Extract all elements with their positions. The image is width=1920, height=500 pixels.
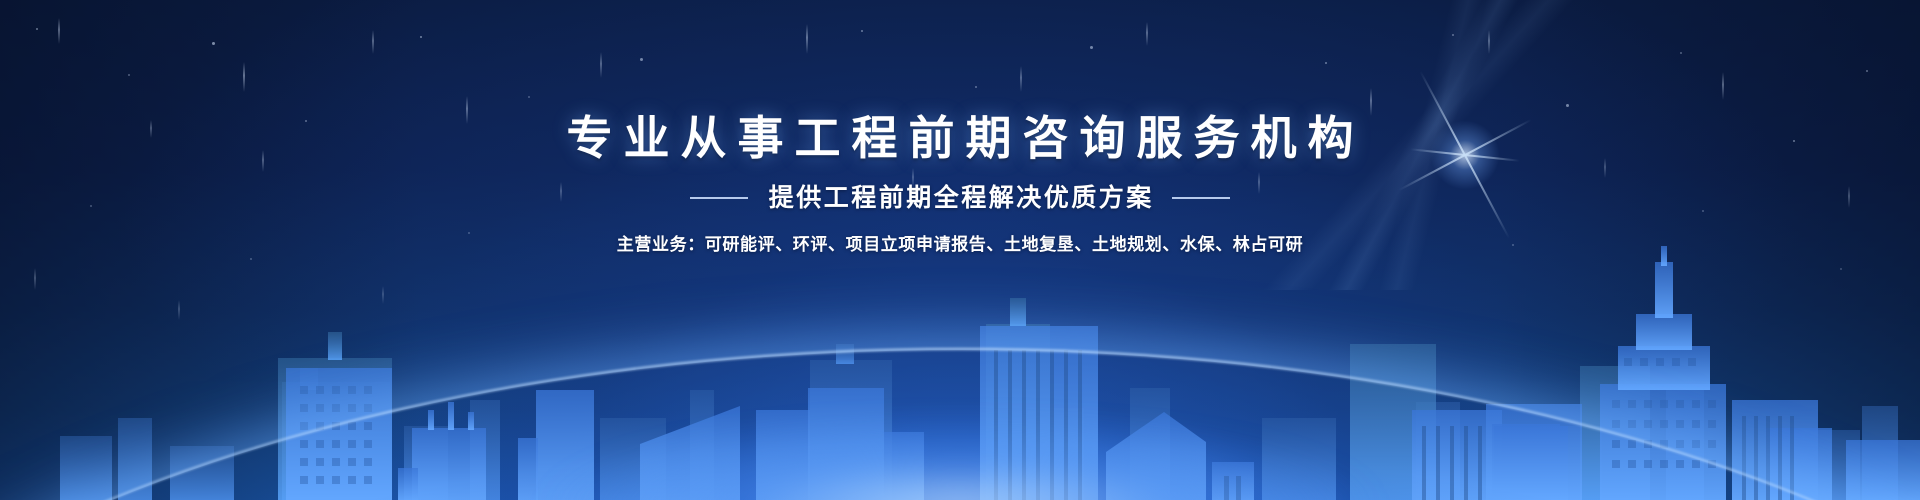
services-line: 主营业务：可研能评、环评、项目立项申请报告、土地复垦、土地规划、水保、林占可研 xyxy=(0,233,1920,257)
right-rule-icon xyxy=(1172,197,1230,199)
horizon-hotspot xyxy=(360,380,1560,500)
left-rule-icon xyxy=(690,197,748,199)
hero-banner: 专业从事工程前期咨询服务机构 提供工程前期全程解决优质方案 主营业务：可研能评、… xyxy=(0,0,1920,500)
city-skyline-silhouette xyxy=(0,240,1920,500)
horizon-edge-line xyxy=(0,348,1920,500)
banner-text-block: 专业从事工程前期咨询服务机构 提供工程前期全程解决优质方案 主营业务：可研能评、… xyxy=(0,110,1920,257)
page-title: 专业从事工程前期咨询服务机构 xyxy=(0,110,1920,166)
page-subtitle: 提供工程前期全程解决优质方案 xyxy=(766,182,1154,214)
subtitle-row: 提供工程前期全程解决优质方案 xyxy=(0,182,1920,214)
horizon-glow-arc xyxy=(0,350,1920,500)
